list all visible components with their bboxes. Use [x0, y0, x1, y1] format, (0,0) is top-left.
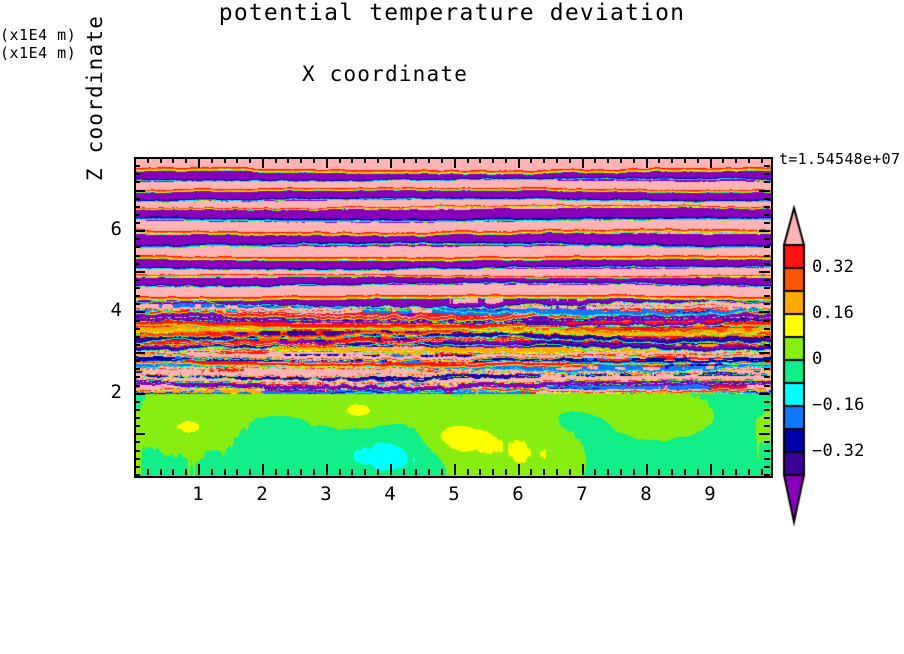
x-tick-label-9: 9	[690, 483, 730, 505]
x-tick-label-1: 1	[178, 483, 218, 505]
colorbar	[781, 200, 811, 530]
y-axis-title: Z coordinate	[83, 3, 107, 193]
page-title: potential temperature deviation	[0, 0, 904, 26]
x-tick-label-2: 2	[242, 483, 282, 505]
x-tick-label-3: 3	[306, 483, 346, 505]
x-tick-label-6: 6	[498, 483, 538, 505]
colorbar-tick-label: −0.16	[812, 395, 865, 415]
colorbar-tick-label: 0.16	[812, 303, 854, 323]
contour-field	[136, 159, 771, 476]
colorbar-tick-label: 0.32	[812, 257, 854, 277]
x-tick-label-7: 7	[562, 483, 602, 505]
x-tick-label-8: 8	[626, 483, 666, 505]
plot-area	[134, 157, 773, 478]
y-tick-label-4: 4	[82, 299, 122, 321]
x-tick-label-4: 4	[370, 483, 410, 505]
x-axis-title: X coordinate	[0, 62, 770, 86]
colorbar-gradient	[781, 200, 811, 530]
x-unit-label: (x1E4 m)	[0, 44, 904, 62]
colorbar-tick-label: −0.32	[812, 441, 865, 461]
x-tick-label-5: 5	[434, 483, 474, 505]
y-tick-label-6: 6	[82, 218, 122, 240]
y-unit-label: (x1E4 m)	[0, 26, 904, 44]
colorbar-tick-label: 0	[812, 349, 823, 369]
y-tick-label-2: 2	[82, 381, 122, 403]
time-annotation: t=1.54548e+07	[779, 150, 900, 168]
